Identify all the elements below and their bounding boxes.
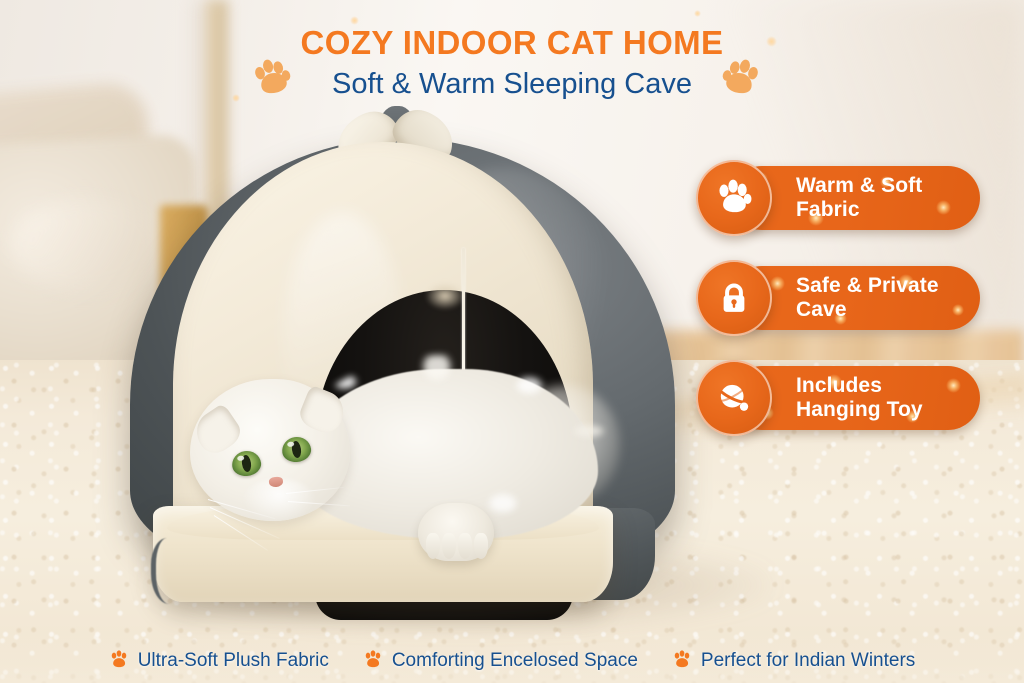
cat-toe bbox=[442, 533, 456, 559]
feature-badge-safe-private-cave[interactable]: Safe & Private Cave bbox=[696, 260, 986, 336]
feature-badge-warm-soft-fabric[interactable]: Warm & Soft Fabric bbox=[696, 160, 986, 236]
cat-toe bbox=[426, 533, 440, 559]
bottom-feature-strip: Ultra-Soft Plush Fabric Comforting Encel… bbox=[0, 639, 1024, 683]
cat-head bbox=[190, 379, 350, 521]
toy-ball-icon bbox=[696, 360, 772, 436]
bottom-feature-comforting-enclosed-space: Comforting Encelosed Space bbox=[363, 649, 638, 674]
badge-label-line2: Hanging Toy bbox=[796, 398, 923, 421]
cat-whiskers bbox=[190, 477, 360, 547]
header: COZY INDOOR CAT HOME Soft & Warm Sleepin… bbox=[0, 0, 1024, 118]
cat-eye-right bbox=[280, 435, 312, 464]
badge-label-line1: Includes bbox=[796, 374, 882, 397]
cat-ear-left bbox=[188, 403, 245, 460]
paw-print-icon bbox=[696, 160, 772, 236]
bottom-feature-label: Comforting Encelosed Space bbox=[392, 650, 638, 672]
badge-label-line2: Cave bbox=[796, 298, 847, 321]
page-subtitle: Soft & Warm Sleeping Cave bbox=[0, 68, 1024, 101]
feature-badge-includes-hanging-toy[interactable]: Includes Hanging Toy bbox=[696, 360, 986, 436]
white-persian-cat bbox=[180, 355, 610, 585]
bottom-feature-label: Ultra-Soft Plush Fabric bbox=[138, 650, 329, 672]
feature-badge-list: Warm & Soft Fabric bbox=[696, 160, 986, 460]
paw-print-icon bbox=[672, 649, 692, 674]
lock-icon bbox=[696, 260, 772, 336]
bottom-feature-ultra-soft-plush-fabric: Ultra-Soft Plush Fabric bbox=[109, 649, 329, 674]
bottom-feature-label: Perfect for Indian Winters bbox=[701, 650, 915, 672]
paw-print-icon bbox=[363, 649, 383, 674]
cat-eye-left bbox=[230, 449, 262, 478]
bottom-feature-perfect-for-indian-winters: Perfect for Indian Winters bbox=[672, 649, 915, 674]
page-title: COZY INDOOR CAT HOME bbox=[0, 24, 1024, 62]
promo-banner: COZY INDOOR CAT HOME Soft & Warm Sleepin… bbox=[0, 0, 1024, 683]
cat-toe bbox=[474, 533, 488, 559]
cat-toe bbox=[458, 533, 472, 559]
cat-front-paw bbox=[418, 503, 494, 561]
badge-label-line1: Warm & Soft bbox=[796, 174, 922, 197]
badge-label-line1: Safe & Private bbox=[796, 274, 939, 297]
badge-label-line2: Fabric bbox=[796, 198, 860, 221]
paw-print-icon bbox=[109, 649, 129, 674]
